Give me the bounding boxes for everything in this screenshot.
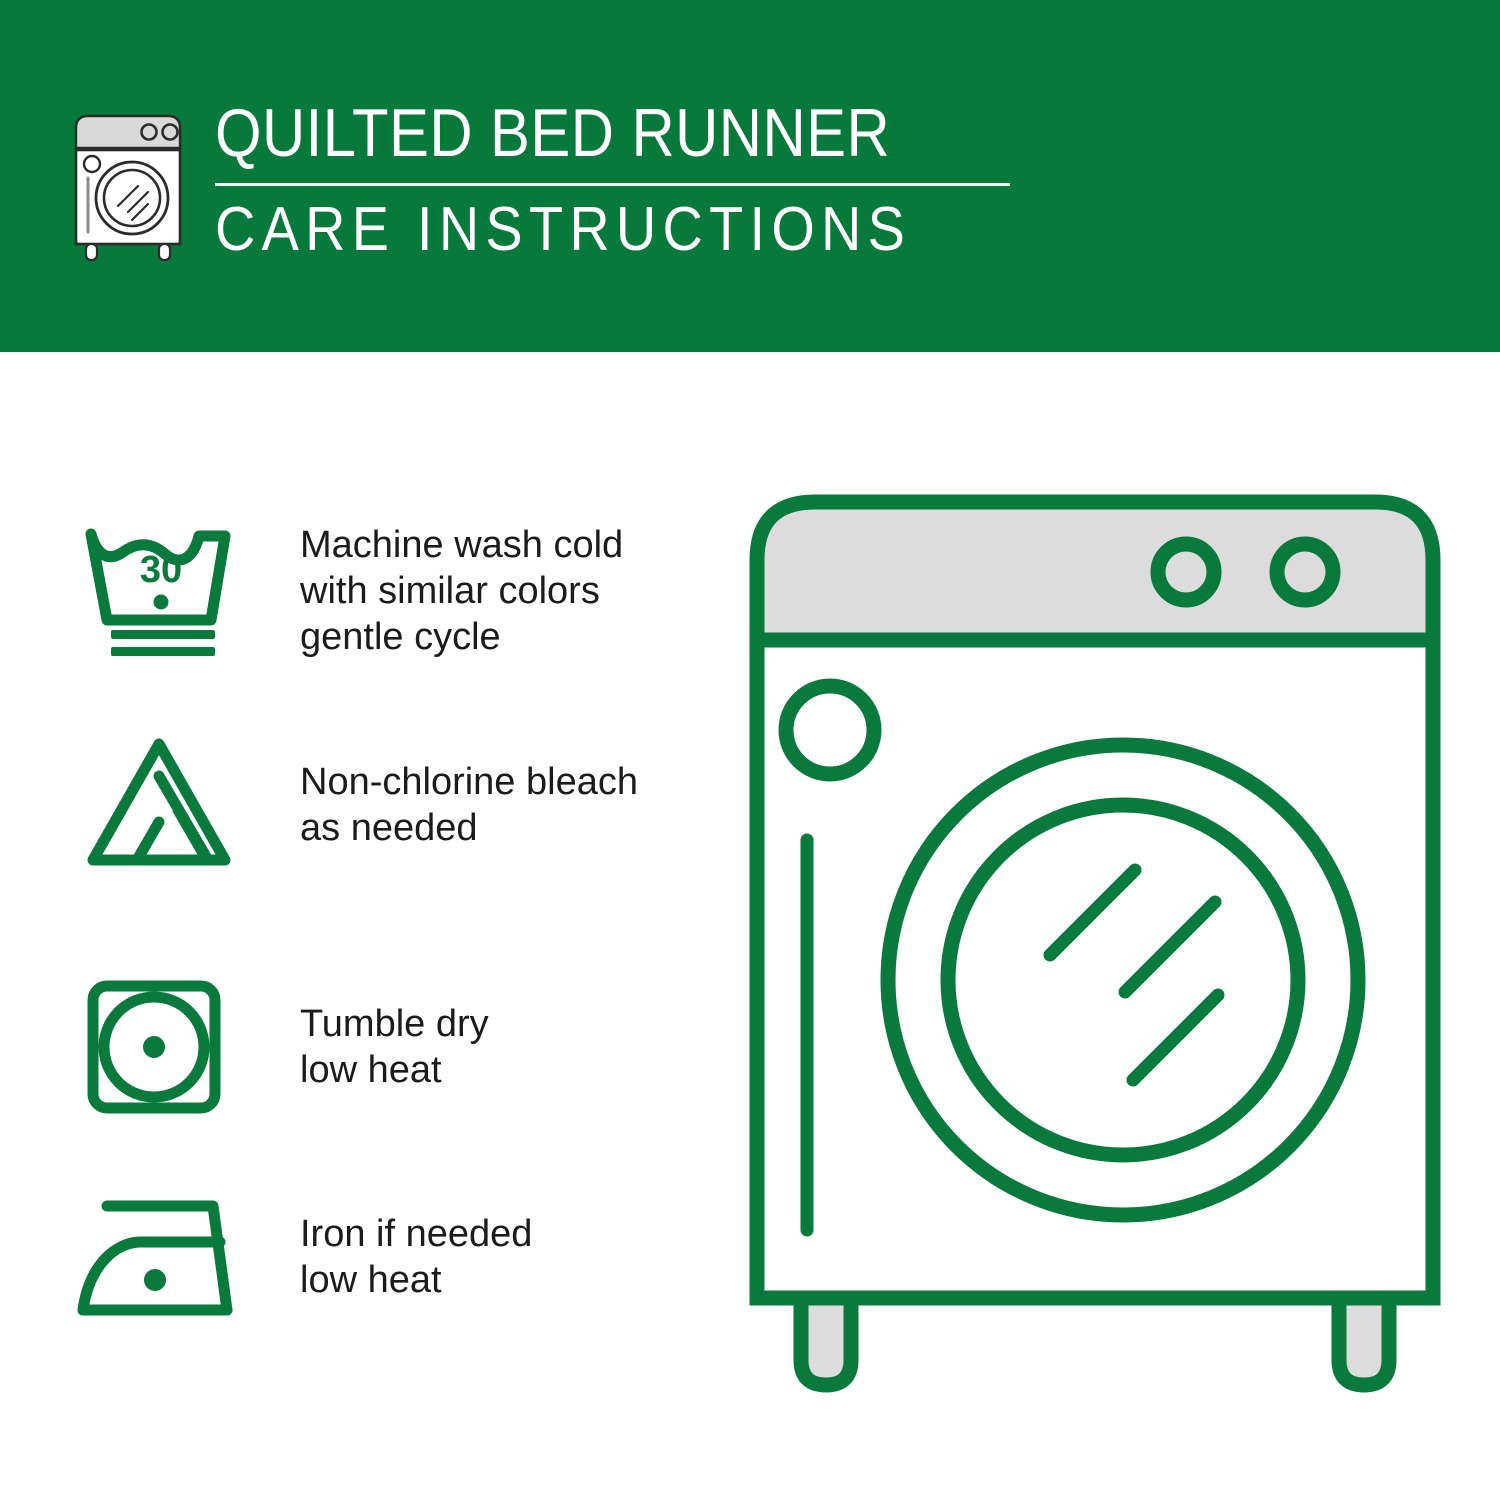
non-chlorine-bleach-icon [75,730,250,880]
washing-machine-illustration [735,480,1455,1410]
iron-low-heat-icon [75,1182,250,1332]
wash-temperature-label: 30 [140,549,182,591]
washing-machine-icon [66,106,190,266]
control-knob-left [1158,544,1214,600]
foot-left [801,1298,851,1385]
care-row-machine-wash: 30 Machine wash cold with similar colors… [75,516,623,666]
care-row-bleach: Non-chlorine bleach as needed [75,730,638,880]
care-row-iron: Iron if needed low heat [75,1182,532,1332]
care-text-machine-wash: Machine wash cold with similar colors ge… [300,522,623,660]
page-title: QUILTED BED RUNNER [215,95,1095,171]
care-instructions-page: QUILTED BED RUNNER CARE INSTRUCTIONS 30 [0,0,1500,1500]
tumble-dry-low-icon [75,972,250,1122]
care-text-iron: Iron if needed low heat [300,1211,532,1303]
header-banner: QUILTED BED RUNNER CARE INSTRUCTIONS [0,0,1500,352]
machine-body [757,640,1433,1298]
care-text-tumble-dry: Tumble dry low heat [300,1001,489,1093]
header-divider [215,183,1010,186]
header-text-block: QUILTED BED RUNNER CARE INSTRUCTIONS [215,95,1215,265]
care-row-tumble-dry: Tumble dry low heat [75,972,489,1122]
control-knob-right [1277,544,1333,600]
foot-right [1339,1298,1389,1385]
care-symbol-list: 30 Machine wash cold with similar colors… [0,352,700,1500]
care-text-bleach: Non-chlorine bleach as needed [300,759,638,851]
machine-wash-30-gentle-icon: 30 [75,516,250,666]
page-subtitle: CARE INSTRUCTIONS [215,195,1115,265]
